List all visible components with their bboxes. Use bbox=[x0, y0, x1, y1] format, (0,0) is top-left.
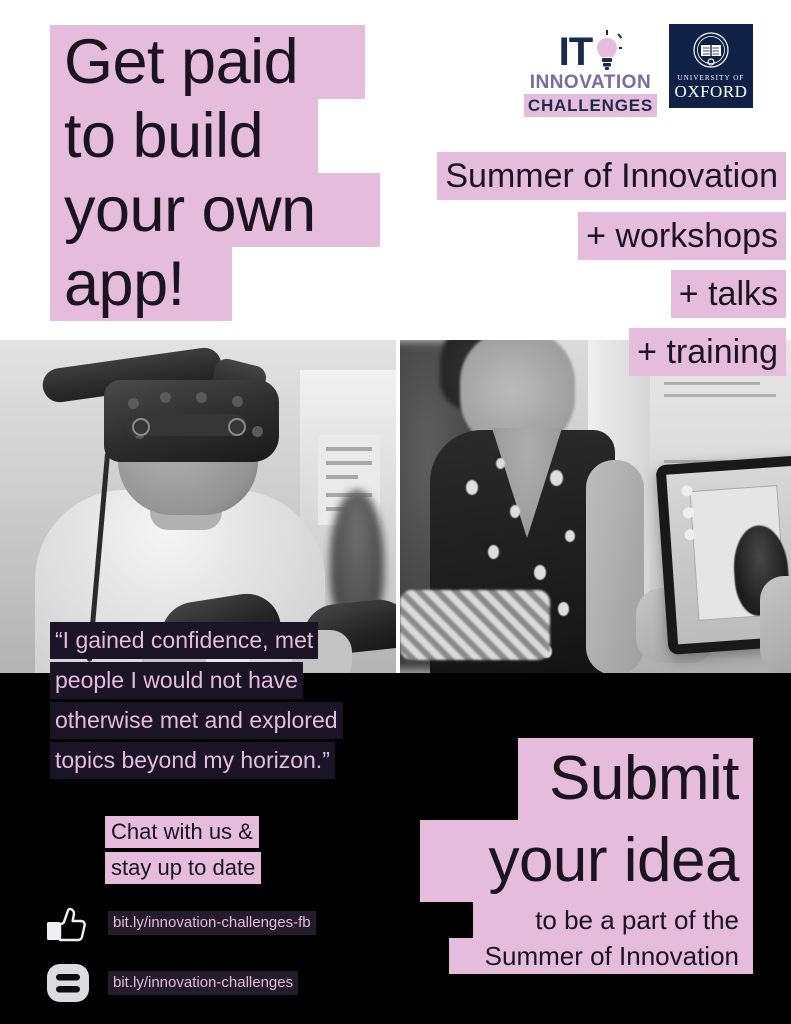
it-innovation-challenges-logo: IT INNOVATION CHALLENGES bbox=[524, 24, 657, 117]
logo-it-text: IT bbox=[559, 32, 593, 72]
summer-of-innovation-list: Summer of Innovation + workshops + talks… bbox=[437, 152, 786, 386]
logo-row: IT INNOVATION CHALLENGES bbox=[524, 24, 753, 117]
social-heading: Chat with us & stay up to date bbox=[105, 816, 261, 888]
photo-hand-holding-tablet bbox=[760, 576, 791, 673]
headline: Get paid to build your own app! bbox=[50, 25, 380, 321]
social-links: bit.ly/innovation-challenges-fb bit.ly/i… bbox=[45, 900, 316, 1020]
submit-call-to-action: Submit your idea to be a part of the Sum… bbox=[420, 738, 753, 974]
social-link-facebook[interactable]: bit.ly/innovation-challenges-fb bbox=[45, 900, 316, 946]
testimonial-quote: “I gained confidence, met people I would… bbox=[50, 622, 343, 782]
oxford-university-label: UNIVERSITY OF bbox=[678, 74, 745, 82]
quote-line-1: “I gained confidence, met bbox=[50, 622, 318, 659]
logo-challenges-text: CHALLENGES bbox=[524, 94, 657, 117]
oxford-crest-icon bbox=[691, 31, 731, 71]
submit-line-2: your idea bbox=[420, 820, 753, 902]
lightbulb-icon bbox=[592, 30, 622, 72]
summer-line-4: + training bbox=[629, 328, 786, 376]
summer-line-3: + talks bbox=[671, 270, 786, 318]
quote-line-3: otherwise met and explored bbox=[50, 702, 343, 739]
submit-line-1: Submit bbox=[518, 738, 753, 820]
poster-canvas: Get paid to build your own app! IT bbox=[0, 0, 791, 1024]
headline-line-1: Get paid bbox=[50, 25, 365, 99]
oxford-logo: UNIVERSITY OF OXFORD bbox=[669, 24, 753, 108]
oxford-wordmark: OXFORD bbox=[675, 82, 748, 101]
headline-line-3: your own bbox=[50, 173, 380, 247]
facebook-url[interactable]: bit.ly/innovation-challenges-fb bbox=[108, 911, 316, 935]
thumbs-up-icon[interactable] bbox=[45, 900, 91, 946]
social-link-blog[interactable]: bit.ly/innovation-challenges bbox=[45, 960, 316, 1006]
logo-innovation-text: INNOVATION bbox=[530, 72, 651, 94]
submit-subline-2: Summer of Innovation bbox=[449, 938, 753, 974]
photo-wristband bbox=[400, 590, 550, 660]
logo-top-row: IT bbox=[559, 30, 623, 72]
headline-line-2: to build bbox=[50, 99, 318, 173]
tablet-demo-photo bbox=[400, 340, 791, 673]
quote-line-4: topics beyond my horizon.” bbox=[50, 742, 335, 779]
social-heading-line-2: stay up to date bbox=[105, 852, 261, 884]
submit-subline-1: to be a part of the bbox=[473, 902, 753, 938]
summer-line-2: + workshops bbox=[578, 212, 786, 260]
blog-url[interactable]: bit.ly/innovation-challenges bbox=[108, 971, 298, 995]
blogger-icon[interactable] bbox=[45, 960, 91, 1006]
quote-line-2: people I would not have bbox=[50, 662, 303, 699]
summer-line-1: Summer of Innovation bbox=[437, 152, 786, 200]
photo-subject-arm bbox=[586, 460, 644, 673]
headline-line-4: app! bbox=[50, 247, 232, 321]
social-heading-line-1: Chat with us & bbox=[105, 816, 259, 848]
